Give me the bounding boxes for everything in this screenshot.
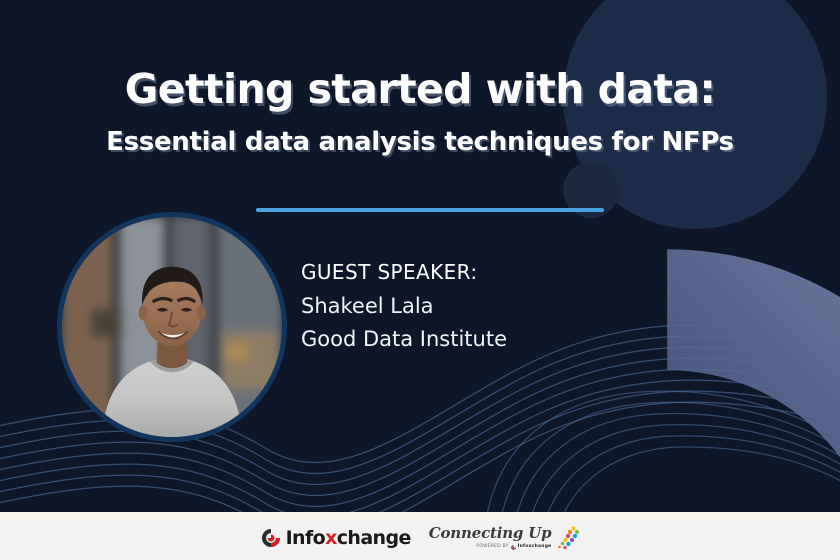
speaker-avatar [57, 212, 287, 442]
speaker-info: GUEST SPEAKER: Shakeel Lala Good Data In… [301, 260, 507, 359]
footer-bar: Infoxchange Connecting Up POWERED BY Inf… [0, 512, 840, 560]
infoxchange-swirl-icon [261, 528, 281, 548]
title-divider [256, 208, 604, 212]
page-subtitle: Essential data analysis techniques for N… [0, 127, 840, 158]
infoxchange-wordmark: Infoxchange [286, 529, 411, 548]
page-title: Getting started with data: [0, 66, 840, 113]
infoxchange-swirl-icon-small [511, 545, 516, 550]
connecting-up-logo[interactable]: Connecting Up POWERED BY Infoxchange [429, 526, 580, 550]
speaker-photo [62, 217, 282, 437]
webinar-promo-slide: Getting started with data: Essential dat… [0, 0, 840, 560]
title-block: Getting started with data: Essential dat… [0, 66, 840, 158]
footer-accent-strip [0, 512, 840, 519]
infoxchange-logo[interactable]: Infoxchange [261, 528, 411, 548]
speaker-organisation: Good Data Institute [301, 326, 507, 353]
connecting-up-tagline: POWERED BY Infoxchange [476, 545, 551, 550]
footer-logo-group: Infoxchange Connecting Up POWERED BY Inf… [261, 526, 580, 550]
speaker-name: Shakeel Lala [301, 293, 507, 320]
connecting-up-wordmark: Connecting Up [429, 526, 552, 542]
speaker-label: GUEST SPEAKER: [301, 260, 507, 284]
connecting-up-dots-icon [553, 526, 579, 550]
